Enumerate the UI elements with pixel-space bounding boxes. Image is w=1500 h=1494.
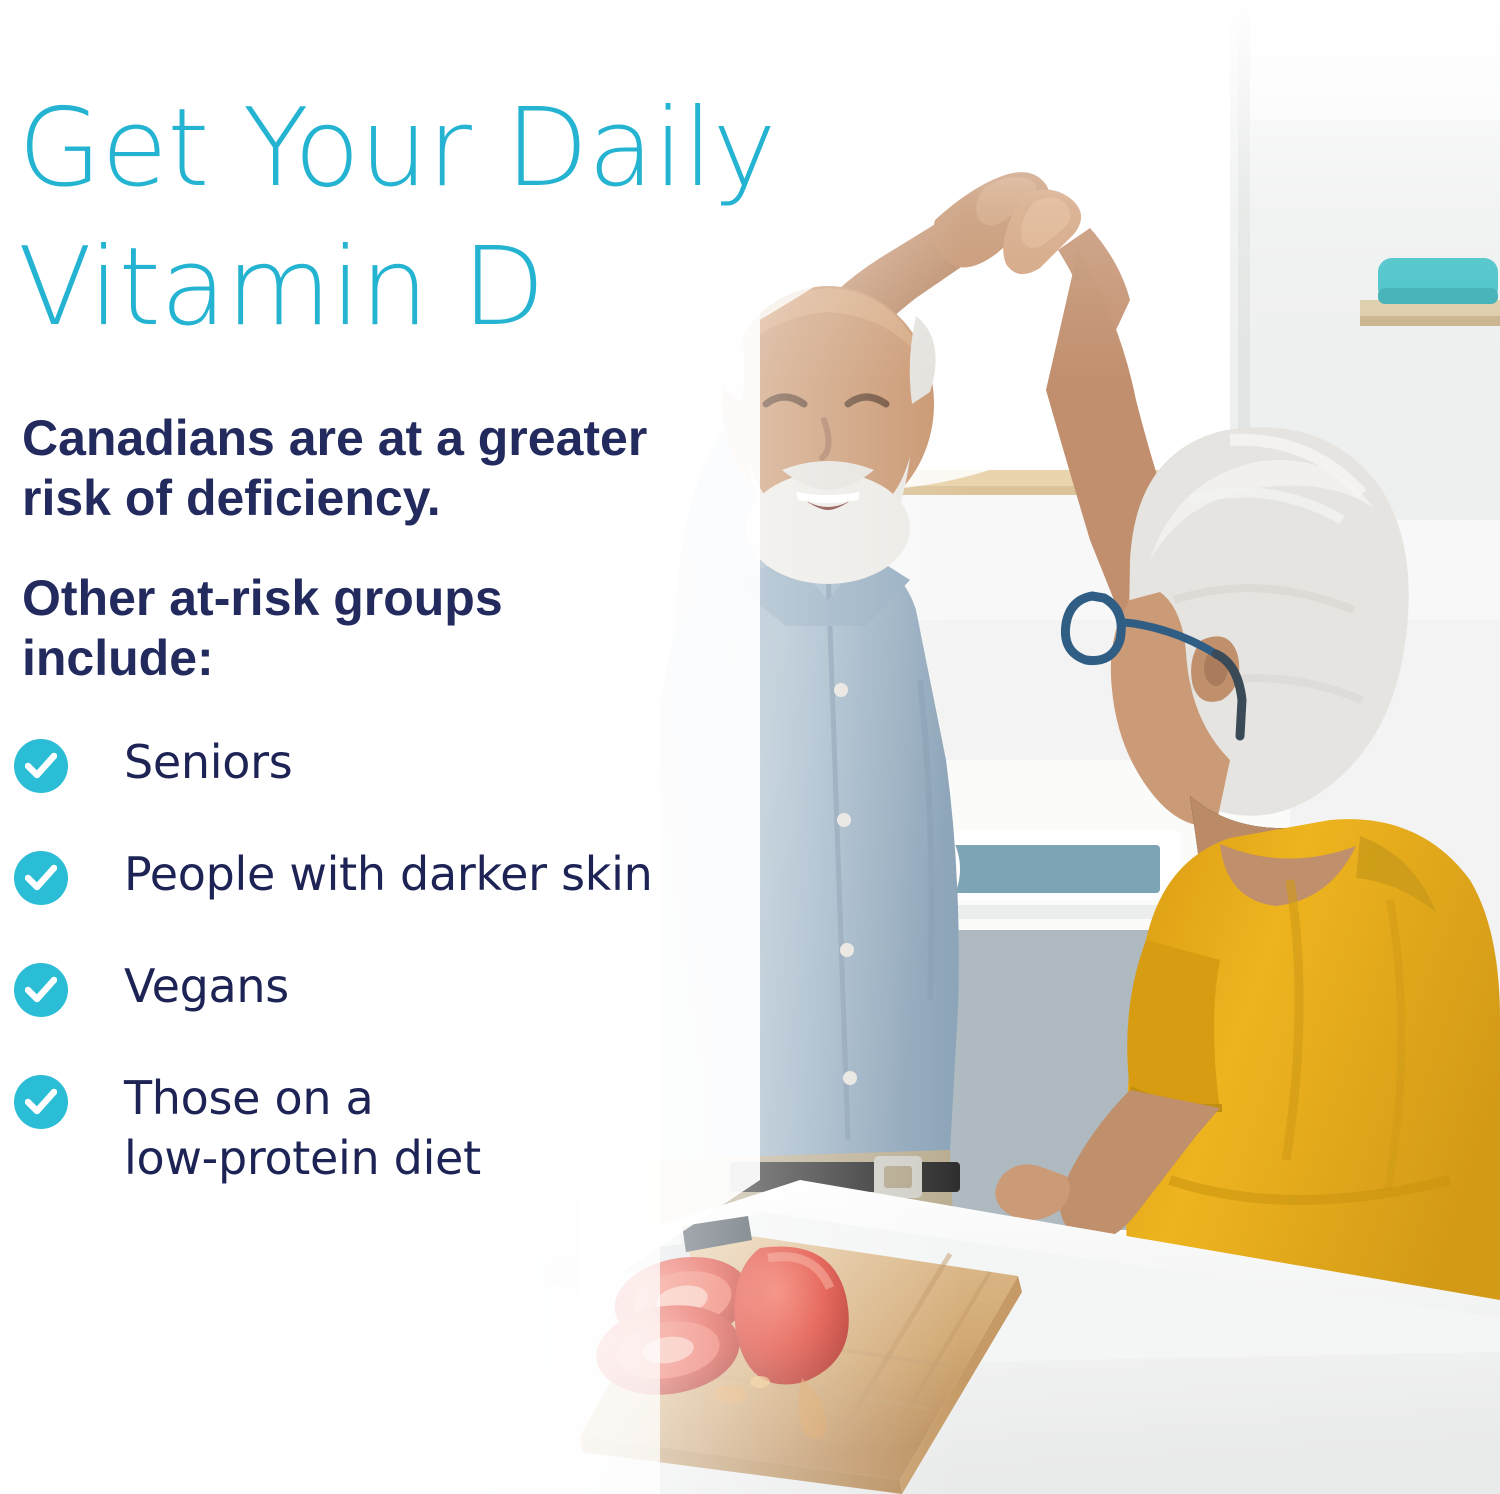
list-item: Seniors <box>14 733 914 793</box>
text-column: Get Your Daily Vitamin D Canadians are a… <box>0 0 1000 1494</box>
list-item: People with darker skin <box>14 845 914 905</box>
checkmark-glyph <box>25 752 57 780</box>
check-circle-icon <box>14 963 68 1017</box>
list-item: Vegans <box>14 957 914 1017</box>
list-item-label: Vegans <box>124 957 914 1017</box>
list-item: Those on a low-protein diet <box>14 1069 914 1189</box>
subheading-risk: Canadians are at a greater risk of defic… <box>22 408 852 528</box>
check-circle-icon <box>14 739 68 793</box>
page-title: Get Your Daily Vitamin D <box>18 80 978 356</box>
list-item-label: People with darker skin <box>124 845 914 905</box>
check-circle-icon <box>14 851 68 905</box>
poster-canvas: Get Your Daily Vitamin D Canadians are a… <box>0 0 1500 1494</box>
checkmark-glyph <box>25 864 57 892</box>
checkmark-glyph <box>25 1088 57 1116</box>
check-circle-icon <box>14 1075 68 1129</box>
list-item-label: Those on a low-protein diet <box>124 1069 914 1189</box>
at-risk-groups-list: Seniors People with darker skin Vegans <box>14 733 914 1241</box>
checkmark-glyph <box>25 976 57 1004</box>
subheading-groups: Other at-risk groups include: <box>22 568 852 688</box>
list-item-label: Seniors <box>124 733 914 793</box>
